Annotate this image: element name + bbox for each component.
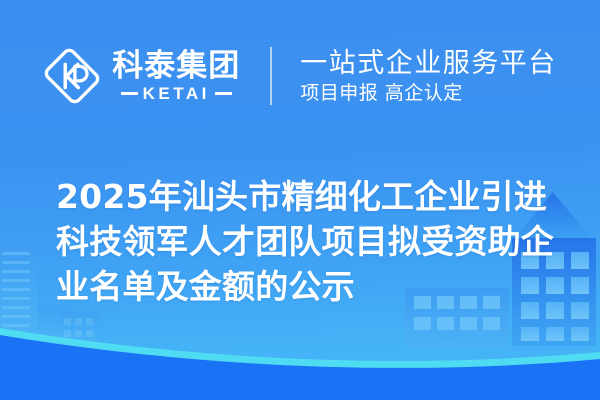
page-title: 2025年汕头市精细化工企业引进科技领军人才团队项目拟受资助企业名单及金额的公示 xyxy=(56,174,568,309)
tagline-group: 一站式企业服务平台 项目申报 高企认定 xyxy=(300,49,557,104)
banner-header: 科泰集团 KETAI 一站式企业服务平台 项目申报 高企认定 xyxy=(0,38,600,114)
brand-name-en-row: KETAI xyxy=(112,85,240,103)
brand-name-en: KETAI xyxy=(143,85,210,103)
wordmark: 科泰集团 KETAI xyxy=(112,50,240,103)
header-divider xyxy=(270,47,272,105)
ketai-diamond-kp-logo-icon xyxy=(43,47,101,105)
brand-lockup[interactable]: 科泰集团 KETAI 一站式企业服务平台 项目申报 高企认定 xyxy=(43,47,557,105)
dash-left-icon xyxy=(121,92,138,95)
announcement-banner: 科泰集团 KETAI 一站式企业服务平台 项目申报 高企认定 2025年汕头市精… xyxy=(0,0,600,400)
tagline-main: 一站式企业服务平台 xyxy=(300,49,557,79)
building-left-block xyxy=(38,305,100,343)
dash-right-icon xyxy=(215,92,232,95)
building-left-tower xyxy=(0,243,38,343)
brand-name-cn: 科泰集团 xyxy=(112,50,240,83)
tagline-sub: 项目申报 高企认定 xyxy=(300,82,557,104)
